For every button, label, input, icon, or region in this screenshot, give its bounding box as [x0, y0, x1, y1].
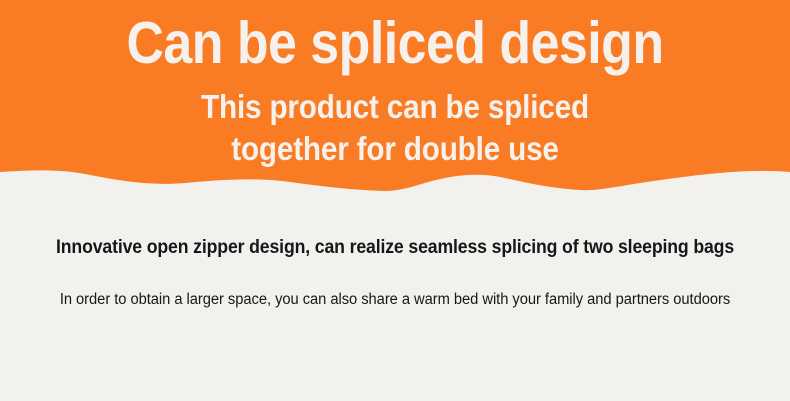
- body-headline: Innovative open zipper design, can reali…: [28, 237, 763, 259]
- body-subline: In order to obtain a larger space, you c…: [20, 291, 771, 309]
- product-feature-banner: Can be spliced design This product can b…: [0, 0, 790, 401]
- hero-text-block: Can be spliced design This product can b…: [0, 0, 790, 175]
- hero-subtitle-line-1: This product can be spliced: [40, 86, 751, 128]
- hero-section: Can be spliced design This product can b…: [0, 0, 790, 200]
- hero-subtitle: This product can be spliced together for…: [40, 86, 751, 170]
- hero-title: Can be spliced design: [47, 14, 742, 73]
- body-copy-section: Innovative open zipper design, can reali…: [0, 200, 790, 401]
- hero-subtitle-line-2: together for double use: [40, 128, 751, 170]
